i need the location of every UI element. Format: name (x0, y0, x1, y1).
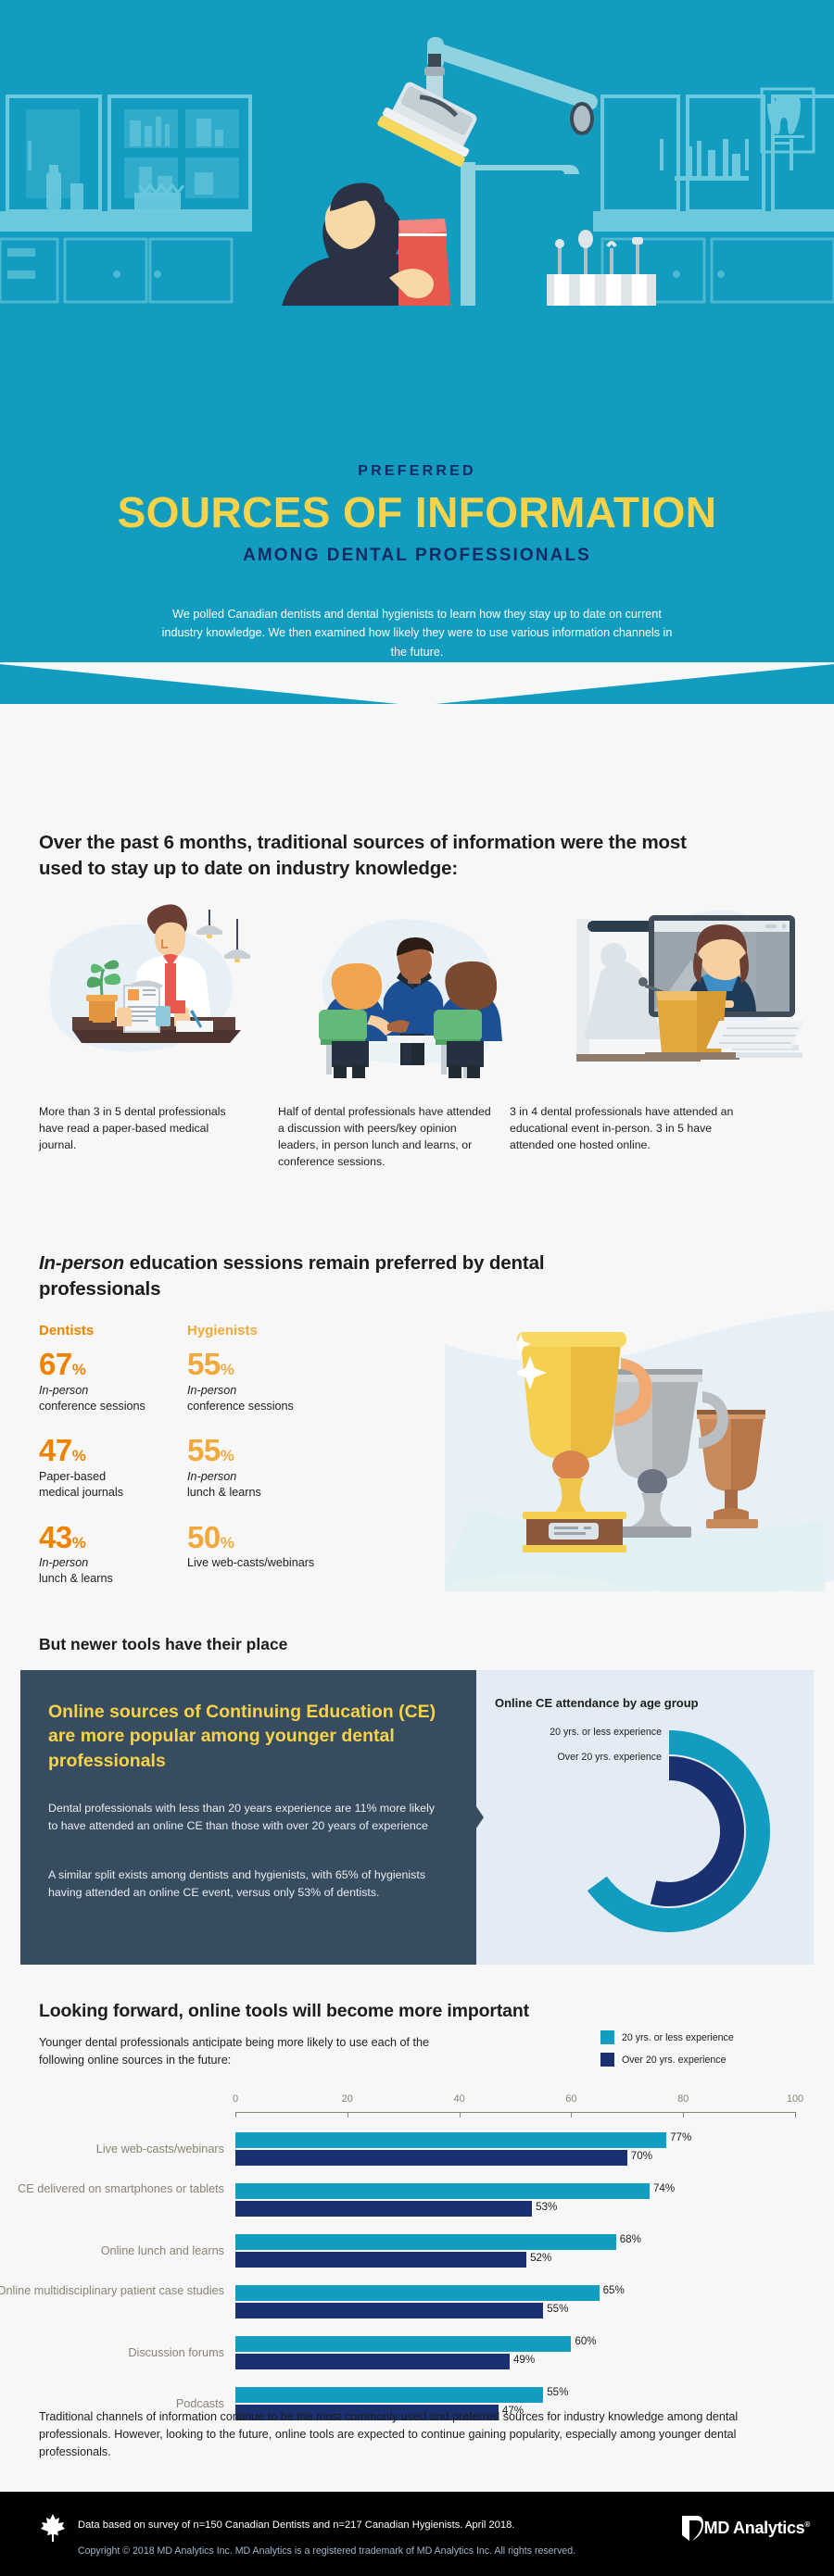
bar-value-label: 65% (603, 2284, 625, 2296)
stat-value: 43% (39, 1521, 206, 1554)
stat-item: 55% In-personconference sessions (187, 1348, 391, 1414)
legend-swatch-navy (600, 2053, 614, 2067)
ce-panel-paragraph-2: A similar split exists among dentists an… (48, 1866, 447, 1902)
legend-item: Over 20 yrs. experience (600, 2053, 795, 2067)
x-tick-mark (347, 2112, 348, 2117)
x-tick-label: 80 (677, 2093, 689, 2105)
donut-chart (539, 1711, 799, 1952)
stat-label-line1: In-person (39, 1384, 88, 1397)
legend-swatch-teal (600, 2030, 614, 2044)
bar (235, 2387, 543, 2403)
x-tick-label: 40 (453, 2093, 464, 2105)
group-discussion-illustration (298, 898, 549, 1084)
section1-heading: Over the past 6 months, traditional sour… (39, 830, 688, 881)
stat-value: 55% (187, 1434, 391, 1467)
stat-number: 67 (39, 1347, 72, 1381)
stat-label: In-personlunch & learns (187, 1469, 391, 1501)
stat-label-line2: conference sessions (187, 1400, 294, 1413)
bar (235, 2336, 571, 2352)
dental-office-illustration (0, 0, 834, 306)
stat-number: 43 (39, 1520, 72, 1554)
section4-subtext: Younger dental professionals anticipate … (39, 2034, 465, 2069)
stat-label: Paper-basedmedical journals (39, 1469, 206, 1501)
hygienists-title: Hygienists (187, 1323, 391, 1338)
hero-bottom-notch (0, 662, 834, 704)
x-tick-mark (460, 2112, 461, 2117)
sub-title: AMONG DENTAL PROFESSIONALS (0, 546, 834, 566)
stat-percent: % (221, 1447, 234, 1464)
hero-paragraph: We polled Canadian dentists and dental h… (158, 605, 676, 661)
stat-number: 50 (187, 1520, 221, 1554)
dentists-title: Dentists (39, 1323, 206, 1338)
bar (235, 2201, 532, 2217)
stat-item: 43% In-personlunch & learns (39, 1521, 206, 1587)
stat-label-line1: In-person (39, 1556, 88, 1569)
bar-category-label: CE delivered on smartphones or tablets (0, 2181, 224, 2196)
trophies-illustration (517, 1276, 795, 1554)
section3-heading: But newer tools have their place (39, 1635, 287, 1654)
doctor-reading-journal-illustration (28, 898, 278, 1084)
stat-percent: % (72, 1447, 86, 1464)
bar-value-label: 55% (547, 2386, 568, 2398)
x-axis-line (235, 2112, 795, 2113)
bar (235, 2354, 510, 2369)
ce-panel-paragraph-1: Dental professionals with less than 20 y… (48, 1800, 447, 1835)
bar-category-label: Online lunch and learns (0, 2243, 224, 2258)
stat-label-line1: Live web-casts/webinars (187, 1556, 314, 1569)
main-title: SOURCES OF INFORMATION (0, 491, 834, 534)
closing-paragraph: Traditional channels of information cont… (39, 2408, 795, 2461)
x-tick-label: 0 (233, 2093, 238, 2105)
bar (235, 2183, 650, 2199)
legend-item: 20 yrs. or less experience (600, 2030, 795, 2044)
x-tick-mark (683, 2112, 684, 2117)
bar-value-label: 49% (513, 2354, 535, 2366)
bar (235, 2252, 526, 2268)
stat-percent: % (221, 1361, 234, 1378)
stat-label: In-personconference sessions (187, 1383, 391, 1414)
x-tick-label: 100 (787, 2093, 803, 2105)
brand-trademark: ® (804, 2520, 810, 2529)
caption-educational-event: 3 in 4 dental professionals have attende… (510, 1104, 737, 1154)
stat-value: 47% (39, 1434, 206, 1467)
stat-label: Live web-casts/webinars (187, 1555, 391, 1571)
bar-value-label: 60% (575, 2335, 596, 2347)
ce-panel: Online sources of Continuing Education (… (20, 1670, 814, 1965)
stat-value: 50% (187, 1521, 391, 1554)
stat-value: 55% (187, 1348, 391, 1381)
donut-chart-title: Online CE attendance by age group (495, 1696, 801, 1710)
section-future-online-tools: Looking forward, online tools will becom… (0, 1982, 834, 2436)
footer-copyright: Copyright © 2018 MD Analytics Inc. MD An… (78, 2545, 575, 2557)
hygienists-column: Hygienists 55% In-personconference sessi… (187, 1323, 391, 1591)
stat-number: 55 (187, 1347, 221, 1381)
legend-label: 20 yrs. or less experience (622, 2032, 734, 2043)
stat-label-line2: medical journals (39, 1486, 123, 1499)
bar (235, 2150, 627, 2166)
dentists-column: Dentists 67% In-personconference session… (39, 1323, 206, 1607)
section-in-person-preferred: In-person education sessions remain pref… (0, 1232, 834, 1621)
stat-label-line1: In-person (187, 1470, 236, 1483)
bar-value-label: 74% (653, 2182, 675, 2194)
stat-percent: % (72, 1534, 86, 1552)
stat-label-line2: lunch & learns (39, 1572, 113, 1585)
bar-category-label: Discussion forums (0, 2345, 224, 2360)
stat-label-line1: In-person (187, 1384, 236, 1397)
bar-value-label: 77% (670, 2131, 691, 2143)
bar-value-label: 52% (530, 2252, 551, 2264)
section2-heading-italic: In-person (39, 1252, 124, 1274)
bar-value-label: 55% (547, 2303, 568, 2315)
bar (235, 2132, 666, 2148)
stat-label: In-personlunch & learns (39, 1555, 206, 1587)
caption-journal: More than 3 in 5 dental professionals ha… (39, 1104, 234, 1154)
stat-item: 67% In-personconference sessions (39, 1348, 206, 1414)
bar (235, 2303, 543, 2318)
caption-discussion: Half of dental professionals have attend… (278, 1104, 491, 1171)
stat-item: 47% Paper-basedmedical journals (39, 1434, 206, 1500)
section4-heading: Looking forward, online tools will becom… (39, 1999, 743, 2023)
panel-arrow-notch (456, 1777, 484, 1858)
bar-category-label: Live web-casts/webinars (0, 2142, 224, 2156)
hero-section: PREFERRED SOURCES OF INFORMATION AMONG D… (0, 0, 834, 704)
stat-label-line2: lunch & learns (187, 1486, 261, 1499)
x-tick-label: 60 (565, 2093, 576, 2105)
bar-value-label: 70% (631, 2150, 652, 2162)
pre-title: PREFERRED (0, 463, 834, 480)
stat-number: 47 (39, 1433, 72, 1467)
stat-item: 55% In-personlunch & learns (187, 1434, 391, 1500)
bar-value-label: 53% (536, 2201, 557, 2213)
stat-number: 55 (187, 1433, 221, 1467)
ce-panel-kicker: Online sources of Continuing Education (… (48, 1700, 447, 1773)
bar-chart-legend: 20 yrs. or less experience Over 20 yrs. … (600, 2030, 795, 2075)
brand-logo: MD Analytics® (680, 2514, 810, 2542)
chart-axis-area: 020406080100Live web-casts/webinars77%70… (235, 2093, 795, 2399)
horizontal-bar-chart: 020406080100Live web-casts/webinars77%70… (39, 2093, 795, 2399)
bar (235, 2234, 616, 2250)
x-tick-label: 20 (342, 2093, 353, 2105)
stat-value: 67% (39, 1348, 206, 1381)
x-tick-mark (235, 2112, 236, 2117)
footer-source: Data based on survey of n=150 Canadian D… (78, 2519, 514, 2531)
bar (235, 2285, 600, 2301)
stat-label-line1: Paper-based (39, 1470, 106, 1483)
stat-percent: % (221, 1534, 234, 1552)
stat-percent: % (72, 1361, 86, 1378)
stat-label: In-personconference sessions (39, 1383, 206, 1414)
illustration-row (28, 898, 815, 1093)
infographic-page: PREFERRED SOURCES OF INFORMATION AMONG D… (0, 0, 834, 2576)
bar-value-label: 68% (620, 2233, 641, 2245)
bar-category-label: Online multidisciplinary patient case st… (0, 2283, 224, 2298)
stat-item: 50% Live web-casts/webinars (187, 1521, 391, 1572)
md-analytics-mark-icon (680, 2514, 704, 2542)
stat-label-line2: conference sessions (39, 1400, 145, 1413)
legend-label: Over 20 yrs. experience (622, 2055, 726, 2066)
x-tick-mark (571, 2112, 572, 2117)
online-presentation-illustration (556, 898, 806, 1084)
section2-heading: In-person education sessions remain pref… (39, 1250, 558, 1301)
footer: Data based on survey of n=150 Canadian D… (0, 2492, 834, 2576)
brand-name: MD Analytics® (704, 2519, 810, 2538)
x-tick-mark (795, 2112, 796, 2117)
maple-leaf-icon (41, 2514, 65, 2542)
brand-text: MD Analytics (704, 2519, 805, 2537)
hero-title-block: PREFERRED SOURCES OF INFORMATION AMONG D… (0, 463, 834, 661)
